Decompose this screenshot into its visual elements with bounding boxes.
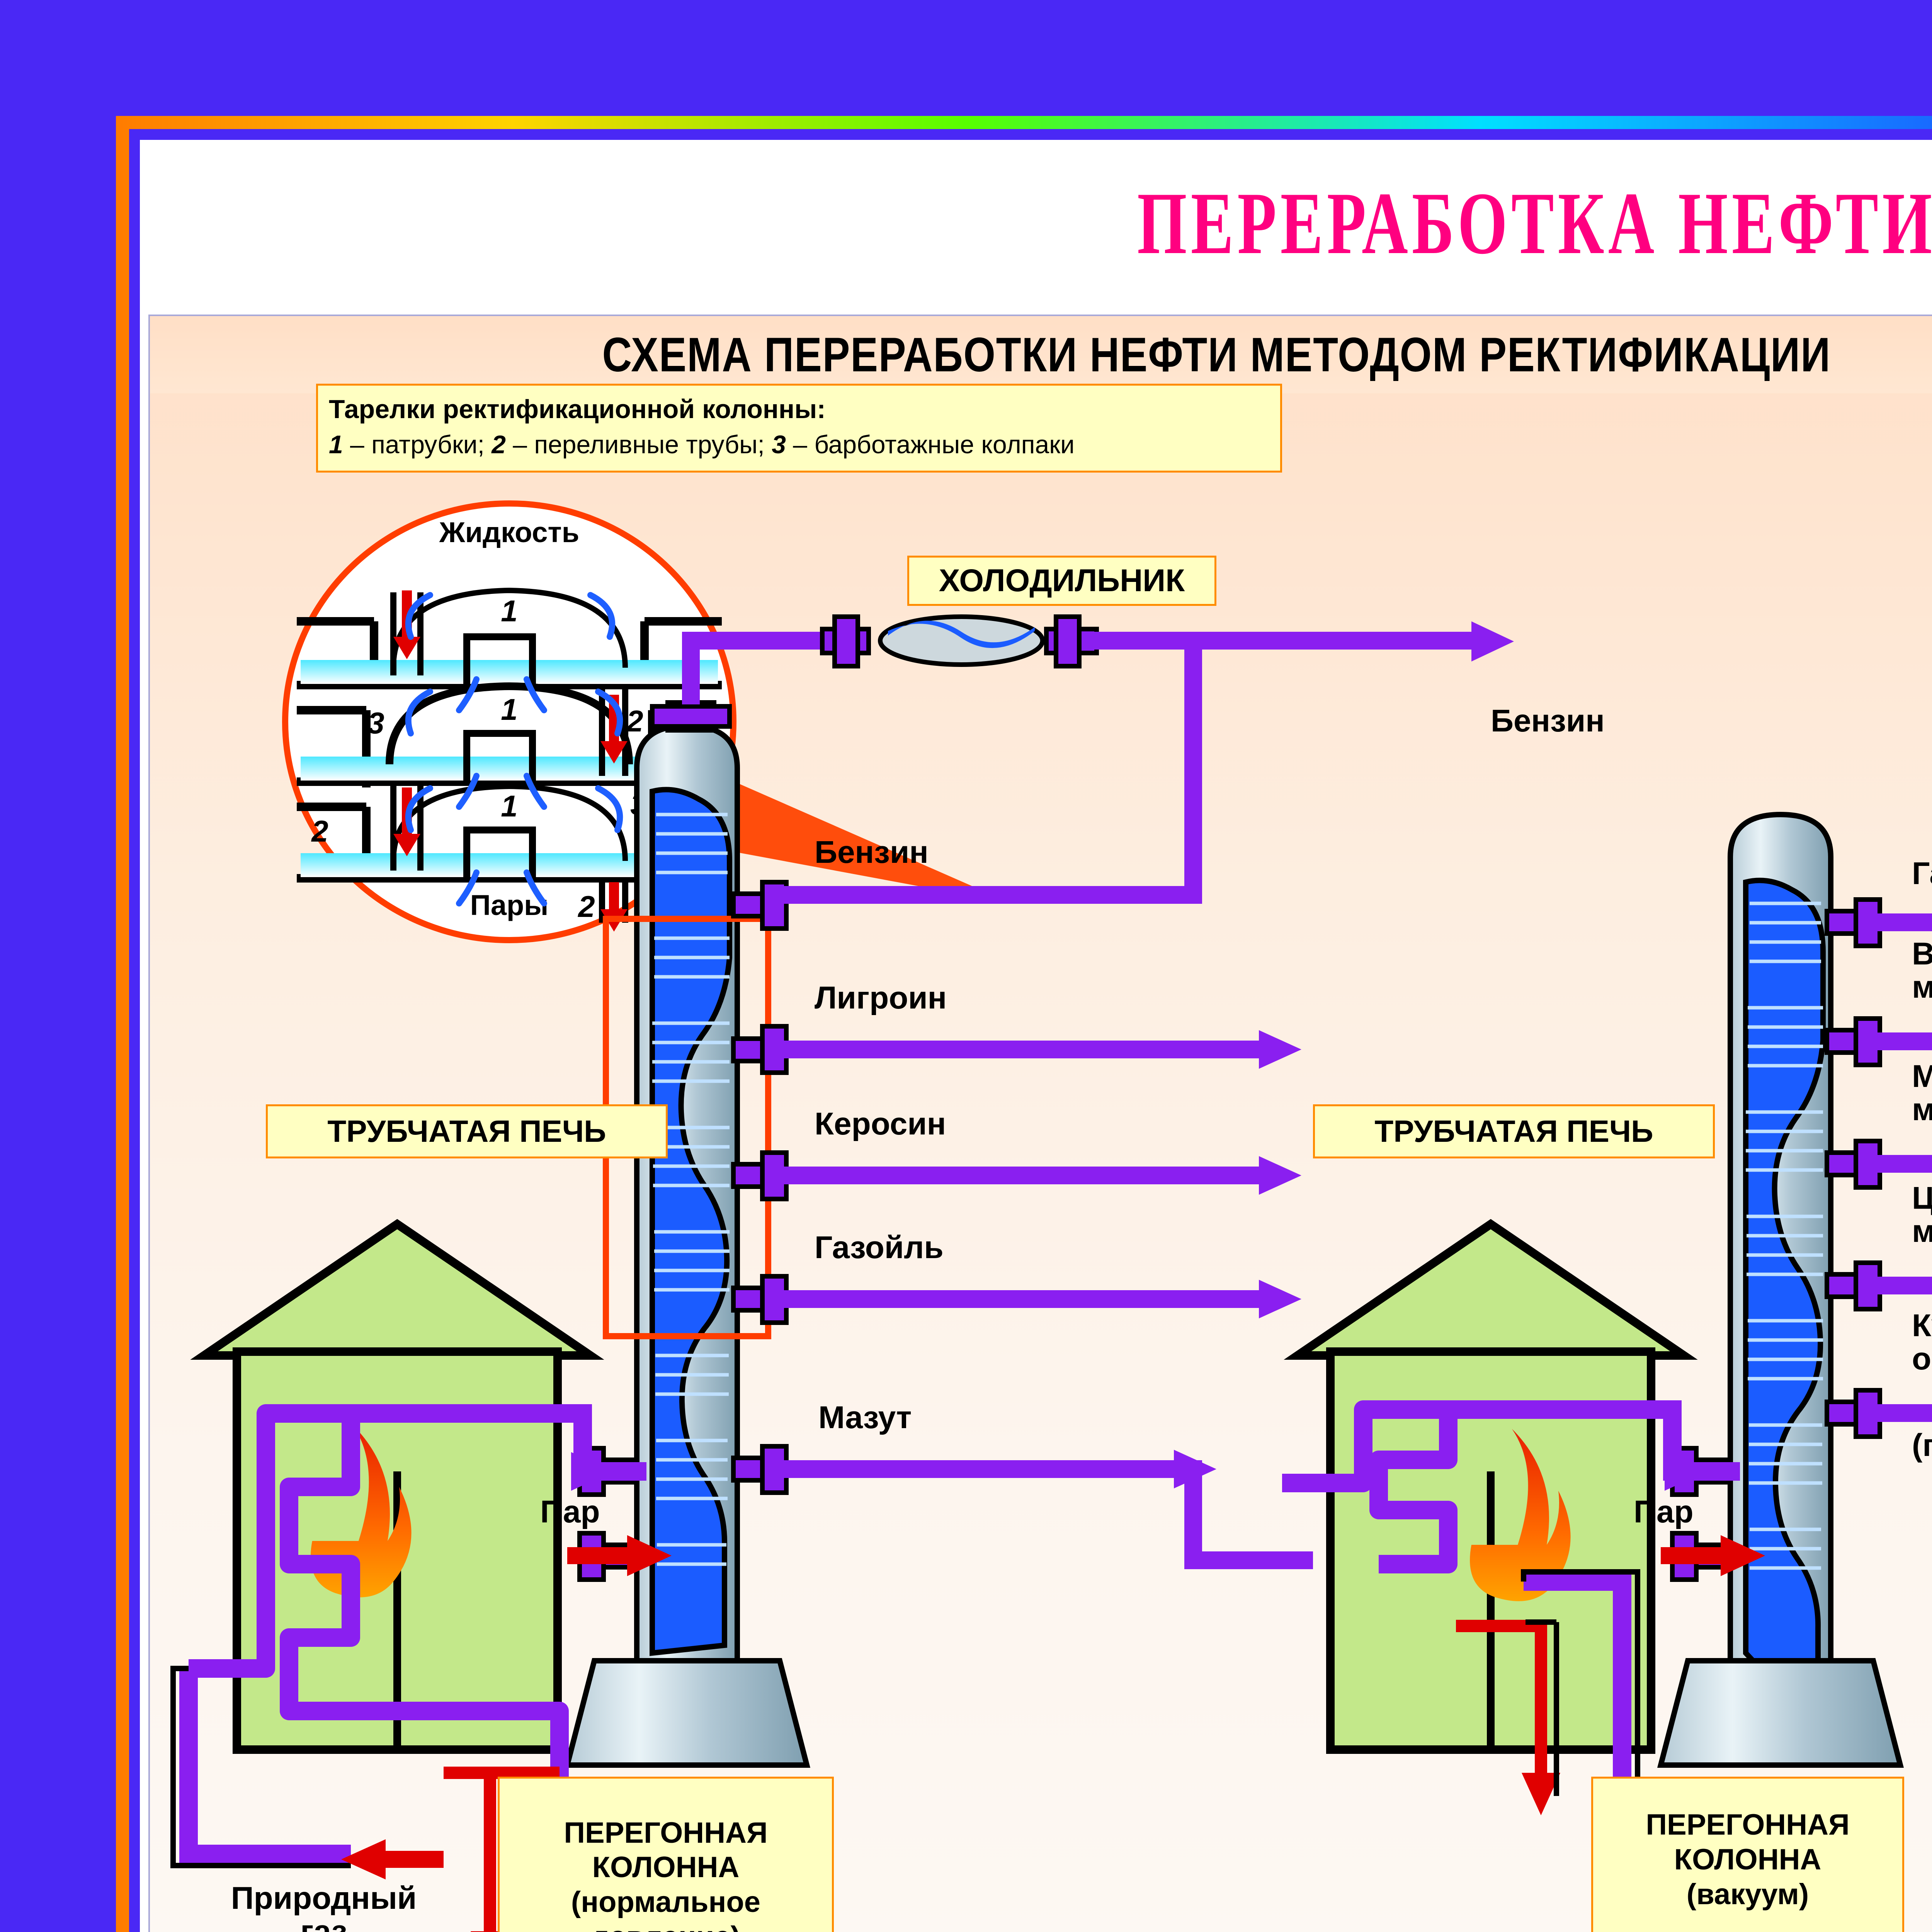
column1-caption: ПЕРЕГОННАЯ КОЛОННА (нормальное давление) [498,1777,834,1932]
column1-caption-l4: давление) [591,1920,740,1932]
output-label-cylinder-oil: Цилиндрическоемасло [1912,1182,1932,1248]
output-label-benzin-side: Бензин [815,836,929,869]
distillation-column-1 [567,702,807,1765]
rainbow-border: ПЕРЕРАБОТКА НЕФТИ СХЕМА ПЕРЕРАБОТКИ НЕФТ… [116,116,1932,1932]
output-label-bottoms: Кубовыйостаток [1912,1309,1932,1376]
output-label-gasoil-2: Газойль [1912,857,1932,890]
output-label-gudron: (гудрон) [1912,1429,1932,1462]
page-title: ПЕРЕРАБОТКА НЕФТИ [1137,172,1932,274]
output-label-gasoil-1: Газойль [815,1231,944,1264]
output-label-benzin-top: Бензин [1491,704,1605,738]
panels-row: СХЕМА ПЕРЕРАБОТКИ НЕФТИ МЕТОДОМ РЕКТИФИК… [140,306,1932,1932]
furnace1-caption-text: ТРУБЧАТАЯ ПЕЧЬ [327,1115,606,1148]
steam-label-2: Пар [1634,1495,1694,1529]
furnace2-caption: ТРУБЧАТАЯ ПЕЧЬ [1313,1104,1715,1158]
column2-caption: ПЕРЕГОННАЯ КОЛОННА (вакуум) [1591,1777,1904,1932]
furnace1-caption: ТРУБЧАТАЯ ПЕЧЬ [266,1104,668,1158]
column2-caption-l1: ПЕРЕГОННАЯ [1646,1808,1849,1842]
inner-blue-frame: ПЕРЕРАБОТКА НЕФТИ СХЕМА ПЕРЕРАБОТКИ НЕФТ… [129,129,1932,1932]
natural-gas-label-1: Природныйгаз [216,1882,432,1932]
content-area: ПЕРЕРАБОТКА НЕФТИ СХЕМА ПЕРЕРАБОТКИ НЕФТ… [140,140,1932,1932]
title-bar: ПЕРЕРАБОТКА НЕФТИ [140,140,1932,306]
rectification-panel: СХЕМА ПЕРЕРАБОТКИ НЕФТИ МЕТОДОМ РЕКТИФИК… [148,315,1932,1932]
output-label-kerosin: Керосин [815,1107,946,1141]
output-label-ligroin: Лигроин [815,981,947,1015]
column1-caption-l3: (нормальное [571,1885,760,1920]
output-label-spindle-oil: Веретенноемасло [1912,937,1932,1004]
cooler-caption-text: ХОЛОДИЛЬНИК [939,564,1185,598]
column1-caption-l1: ПЕРЕГОННАЯ [564,1816,767,1850]
column2-caption-l3: (вакуум) [1687,1877,1809,1912]
output-label-machine-oil: Машинноемасло [1912,1060,1932,1126]
cooler-unit [691,617,1471,704]
column1-caption-l2: КОЛОННА [592,1850,740,1885]
output-label-mazut: Мазут [818,1401,912,1434]
column2-caption-l2: КОЛОННА [1674,1842,1821,1877]
cooler-caption: ХОЛОДИЛЬНИК [907,556,1216,606]
poster-root: ПЕРЕРАБОТКА НЕФТИ СХЕМА ПЕРЕРАБОТКИ НЕФТ… [0,0,1932,1932]
furnace2-caption-text: ТРУБЧАТАЯ ПЕЧЬ [1374,1115,1653,1148]
steam-label-1: Пар [540,1495,600,1529]
